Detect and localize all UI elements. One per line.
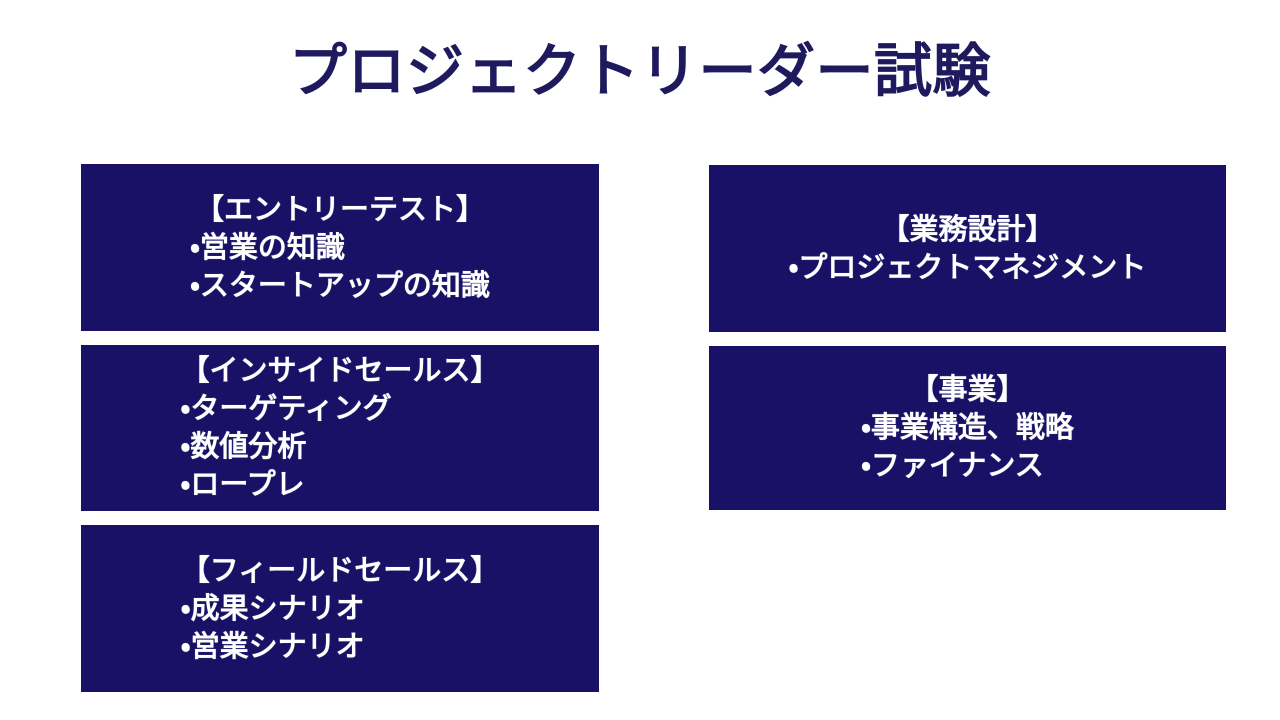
card-entry-test-item-2: ・スタートアップの知識: [190, 267, 490, 305]
card-inside-sales-item-3: ・ロープレ: [180, 466, 499, 504]
card-business-heading: 【事業】: [861, 371, 1074, 409]
card-entry-test-item-1: ・営業の知識: [190, 229, 490, 267]
slide-canvas: プロジェクトリーダー試験 【エントリーテスト】 ・営業の知識 ・スタートアップの…: [0, 0, 1280, 720]
card-operations-design-lines: 【業務設計】 ・プロジェクトマネジメント: [789, 211, 1147, 287]
card-inside-sales-lines: 【インサイドセールス】 ・ターゲティング ・数値分析 ・ロープレ: [180, 352, 499, 504]
card-inside-sales[interactable]: 【インサイドセールス】 ・ターゲティング ・数値分析 ・ロープレ: [81, 345, 599, 511]
card-field-sales-lines: 【フィールドセールス】 ・成果シナリオ ・営業シナリオ: [181, 552, 499, 666]
card-business-item-1: ・事業構造、戦略: [861, 409, 1074, 447]
card-operations-design[interactable]: 【業務設計】 ・プロジェクトマネジメント: [709, 165, 1226, 332]
card-field-sales-item-1: ・成果シナリオ: [181, 590, 499, 628]
card-business[interactable]: 【事業】 ・事業構造、戦略 ・ファイナンス: [709, 346, 1226, 510]
card-entry-test-heading: 【エントリーテスト】: [190, 191, 490, 229]
card-inside-sales-item-1: ・ターゲティング: [180, 390, 499, 428]
left-column: 【エントリーテスト】 ・営業の知識 ・スタートアップの知識 【インサイドセールス…: [81, 164, 599, 692]
card-business-lines: 【事業】 ・事業構造、戦略 ・ファイナンス: [861, 371, 1074, 485]
card-operations-design-heading: 【業務設計】: [789, 211, 1147, 249]
card-entry-test[interactable]: 【エントリーテスト】 ・営業の知識 ・スタートアップの知識: [81, 164, 599, 331]
card-field-sales-item-2: ・営業シナリオ: [181, 628, 499, 666]
card-operations-design-item-1: ・プロジェクトマネジメント: [789, 249, 1147, 287]
card-entry-test-lines: 【エントリーテスト】 ・営業の知識 ・スタートアップの知識: [190, 191, 490, 305]
card-field-sales[interactable]: 【フィールドセールス】 ・成果シナリオ ・営業シナリオ: [81, 525, 599, 692]
right-column: 【業務設計】 ・プロジェクトマネジメント 【事業】 ・事業構造、戦略 ・ファイナ…: [709, 165, 1226, 510]
card-field-sales-heading: 【フィールドセールス】: [181, 552, 499, 590]
card-inside-sales-heading: 【インサイドセールス】: [180, 352, 499, 390]
card-business-item-2: ・ファイナンス: [861, 447, 1074, 485]
page-title: プロジェクトリーダー試験: [0, 38, 1280, 106]
card-inside-sales-item-2: ・数値分析: [180, 428, 499, 466]
